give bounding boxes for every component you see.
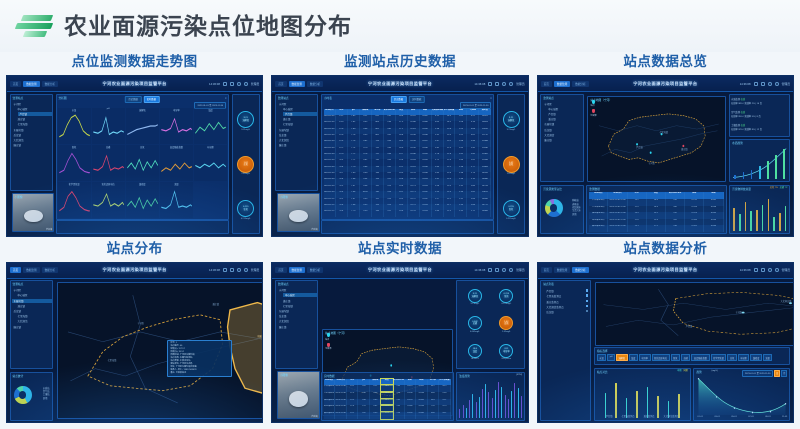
- nav-tab-analysis[interactable]: 数据分析: [42, 81, 58, 87]
- legend-previous: 同期: [683, 370, 687, 373]
- toggle-history[interactable]: 历史数据: [125, 96, 141, 104]
- cell: 0.198: [405, 392, 417, 399]
- gauge-item-3[interactable]: 1.62 总氮 1.62mg/L: [499, 316, 513, 333]
- panel-overview[interactable]: 站点数据总览 首页 数据监测 数据分析 宁河农业面源污染项目监管平台 14:36…: [537, 54, 794, 237]
- nav-tab-home[interactable]: 首页: [10, 81, 21, 87]
- info-key: 联系人: [170, 369, 176, 371]
- bar: [459, 409, 460, 417]
- nav-tab-home[interactable]: 首页: [275, 267, 286, 273]
- mini-chart-9[interactable]: 叶绿素: [194, 145, 227, 181]
- close-icon[interactable]: ×: [225, 96, 227, 100]
- table-row[interactable]: 岳龙镇监测点2023-11-30 12:0012.615.82450.1860.…: [589, 219, 723, 226]
- cell: 2.64: [432, 210, 444, 216]
- dashboard-screenshot-distribution[interactable]: 首页 数据监测 数据分析 宁河农业面源污染项目监管平台 14:36:08 管理员…: [6, 262, 263, 423]
- panel-history[interactable]: 监测站点历史数据 首页 数据监测 数据分析 宁河农业面源污染项目监管平台 14:…: [271, 54, 528, 237]
- station-tree-list[interactable]: 宁河区 中心城区 芦台镇 潘庄镇 七里海镇 东棘坨镇 岳龙镇 大北涧沽 廉庄镇: [11, 101, 52, 149]
- settings-icon[interactable]: [775, 268, 779, 272]
- station-photo-title: 小图像: [15, 195, 23, 199]
- chip-11[interactable]: 叶绿素: [738, 354, 750, 361]
- table-row[interactable]: 潘庄镇监测点2023-11-30 12:0013.57.889.0519.223…: [324, 399, 451, 406]
- map-svg: [596, 283, 794, 345]
- station-tree-card[interactable]: 监测站点 宁河区 中心城区 潘庄镇 七里海镇 东棘坨镇 岳龙镇 大北涧沽 廉庄镇: [275, 280, 318, 369]
- bottom-indicator-strip[interactable]: [56, 220, 230, 234]
- cell: 2.72: [467, 210, 479, 216]
- map-place-0: 宁河区: [648, 161, 655, 165]
- nav-tab-monitor[interactable]: 数据监测: [23, 81, 39, 87]
- tree-item-0[interactable]: 宁河区: [279, 102, 317, 106]
- tree-item-5[interactable]: 东棘坨镇: [279, 309, 317, 313]
- bar: [514, 383, 515, 418]
- tree-item-1[interactable]: 中心城区: [283, 107, 317, 111]
- checkbox-icon[interactable]: [586, 294, 589, 297]
- info-key: 备注: [170, 372, 174, 374]
- cell: 18.6: [647, 199, 666, 206]
- tree-item-5[interactable]: 东棘坨镇: [14, 128, 52, 132]
- topbar-tabs[interactable]: 首页 数据监测 数据分析: [275, 267, 323, 273]
- emission-bar-title: 污染物排放总量: [732, 187, 751, 191]
- user-label[interactable]: 管理员: [516, 268, 524, 272]
- map-place-0: 宁河区: [138, 321, 145, 325]
- chip-6[interactable]: 氨氮: [671, 354, 680, 361]
- checkbox-icon[interactable]: [586, 310, 589, 313]
- checklist-item-0[interactable]: 芦台镇: [546, 289, 588, 293]
- tree-item-2[interactable]: 芦台镇: [283, 112, 317, 116]
- mini-chart-13[interactable]: 流量: [160, 182, 193, 218]
- checklist-item-4[interactable]: 岳龙镇: [546, 310, 588, 314]
- dashboard-screenshot-history[interactable]: 首页 数据监测 数据分析 宁河农业面源污染项目监管平台 14:36:08 管理员…: [271, 75, 528, 236]
- tree-item-2[interactable]: 芦台镇: [18, 112, 52, 116]
- close-icon[interactable]: ×: [490, 96, 492, 100]
- nav-tab-home[interactable]: 首页: [275, 81, 286, 87]
- tree-item-8[interactable]: 廉庄镇: [279, 143, 317, 147]
- toggle-realtime[interactable]: 实时数据: [409, 96, 425, 104]
- turbidity-chart-card[interactable]: 浊度趋势 (NTU): [456, 372, 525, 421]
- cell: 9.05: [370, 399, 382, 406]
- history-table[interactable]: 监测时间 水温 pH 溶解氧 电导率 氧化还原电位 浊度 氨氮 总磷 高锰酸盐指…: [324, 109, 492, 217]
- mini-chart-11[interactable]: 氧化还原电位: [92, 182, 125, 218]
- tree-item-1[interactable]: 中心城区: [18, 293, 52, 297]
- dashboard-screenshot-overview[interactable]: 首页 数据监测 数据分析 宁河农业面源污染项目监管平台 14:36:08 管理员: [537, 75, 794, 236]
- realtime-table-card[interactable]: 实时数据 监测站点 监测时间 水温 pH 溶解氧 浊度 氧化还原电位 氨氮 总磷: [321, 372, 454, 421]
- tree-item-0[interactable]: 宁河区: [279, 288, 317, 292]
- cell: 805: [428, 392, 440, 399]
- history-toggle-group[interactable]: 历史数据 实时数据: [390, 96, 424, 104]
- tree-item-0[interactable]: 宁河区: [14, 102, 52, 106]
- nav-tab-analysis[interactable]: 数据分析: [572, 267, 588, 273]
- chip-7[interactable]: 总磷: [681, 354, 690, 361]
- gauge-name-2: 氨氮: [509, 209, 513, 212]
- tree-item-1[interactable]: 中心城区: [548, 107, 582, 111]
- user-label[interactable]: 管理员: [782, 268, 790, 272]
- tree-item-3[interactable]: 潘庄镇: [283, 299, 317, 303]
- tree-item-3[interactable]: 潘庄镇: [548, 117, 582, 121]
- realtime-gauge-card[interactable]: 9.21 溶解氧 9.21mg/L 0.215 氨氮 0.215mg/L: [456, 280, 525, 369]
- station-tree-list[interactable]: 宁河区 中心城区 芦台镇 潘庄镇 东棘坨镇 岳龙镇 大北涧沽 廉庄镇: [541, 101, 582, 144]
- tree-item-8[interactable]: 廉庄镇: [279, 325, 317, 329]
- station-map-card[interactable]: 站点地图（宁河） 站点 污染源: [587, 96, 725, 182]
- table-row[interactable]: 七里海监测点2023-11-30 12:0012.916.42400.1980.…: [589, 206, 723, 213]
- nav-tab-monitor[interactable]: 数据监测: [23, 267, 39, 273]
- gauge-item-1[interactable]: 0.215 氨氮 0.215mg/L: [499, 289, 513, 306]
- tree-item-0[interactable]: 宁河区: [544, 102, 582, 106]
- topbar-right[interactable]: 14:36:08 管理员: [474, 268, 524, 272]
- cell: 238: [666, 225, 685, 232]
- checkbox-icon[interactable]: [586, 305, 589, 308]
- chip-1[interactable]: pH: [607, 354, 615, 361]
- station-info-popup[interactable]: 序号: 1 站点编号: 06 经度(E): 117.57 纬度(N): 39.5…: [167, 340, 232, 377]
- bar: [615, 383, 617, 417]
- settings-icon[interactable]: [244, 268, 248, 272]
- cell: 0.045: [416, 399, 428, 406]
- trend-area-card[interactable]: 趋势 (mg/L) 2023-01-01 至 2023-11-30 日 月: [693, 368, 790, 421]
- emission-bar-card[interactable]: 污染物排放总量 总氮 TN 总磷 TP: [729, 185, 790, 234]
- tree-item-7[interactable]: 大北涧沽: [279, 319, 317, 323]
- user-label[interactable]: 管理员: [782, 82, 790, 86]
- col-10: 化学需氧量: [439, 379, 451, 386]
- status-row-2[interactable]: 土壤监测 在线 在线率 92% / 离线率 8% | 12 台: [731, 124, 788, 132]
- map-place-1: 芦台镇: [686, 324, 693, 328]
- xtick-0: 01-01: [697, 416, 703, 419]
- tree-item-6[interactable]: 岳龙镇: [14, 133, 52, 137]
- bar: [739, 214, 741, 231]
- gauge-item-1[interactable]: 1.62 总氮 1.62mg/L: [237, 156, 254, 176]
- tree-item-8[interactable]: 廉庄镇: [14, 325, 52, 329]
- tree-item-2[interactable]: 芦台镇: [548, 112, 582, 116]
- col-5-highlight: 浊度: [381, 379, 393, 386]
- dashboard-body: 监测站点 宁河区 中心城区 东棘坨镇 潘庄镇 岳龙镇 七里海镇 大北涧沽 廉庄镇…: [7, 279, 262, 422]
- topbar-right[interactable]: 14:36:08 管理员: [740, 268, 790, 272]
- panel-analysis[interactable]: 站点数据分析 首页 数据监测 数据分析 宁河农业面源污染项目监管平台 14:36…: [537, 241, 794, 424]
- tree-item-7[interactable]: 大北涧沽: [14, 138, 52, 142]
- cell: 0.042: [704, 199, 723, 206]
- bell-icon[interactable]: [237, 82, 241, 86]
- tree-item-4[interactable]: 七里海镇: [18, 314, 52, 318]
- gauge-strip-card: 9.21 溶解氧 9.21mg/L 1.62 总氮 1.62mg/L: [497, 94, 525, 235]
- station-compare-card[interactable]: 站点对比 本期 同期: [594, 368, 691, 421]
- topbar-tabs[interactable]: 首页 数据监测 数据分析: [10, 267, 58, 273]
- screen-icon[interactable]: [495, 268, 499, 272]
- nav-tab-analysis[interactable]: 数据分析: [307, 267, 323, 273]
- checklist-item-2[interactable]: 潘庄监测点: [546, 300, 588, 304]
- station-tree-card[interactable]: 监测站点 宁河区 中心城区 芦台镇 潘庄镇 七里海镇 东棘坨镇 岳龙镇 大北涧沽…: [10, 94, 53, 192]
- table-row[interactable]: 芦台镇监测点2023-11-30 12:0013.27.859.2118.623…: [324, 385, 451, 392]
- water-trend-card[interactable]: 水质趋势: [729, 139, 790, 182]
- station-video-card[interactable]: 小图像 芦台镇: [277, 371, 320, 418]
- mini-chart-1[interactable]: pH: [92, 108, 125, 144]
- tree-item-7[interactable]: 大北涧沽: [544, 133, 582, 137]
- topbar-right[interactable]: 14:36:08 管理员: [209, 268, 259, 272]
- signal-icon[interactable]: [223, 82, 227, 86]
- distribution-map[interactable]: 东棘坨镇 宁河区 芦台镇 七里海镇 潘庄镇 序号: 1 站点编号: 06 经度(…: [57, 282, 264, 419]
- nav-tab-analysis[interactable]: 数据分析: [572, 81, 588, 87]
- tree-item-8[interactable]: 廉庄镇: [14, 143, 52, 147]
- tree-item-3[interactable]: 潘庄镇: [283, 117, 317, 121]
- tree-item-5[interactable]: 东棘坨镇: [12, 299, 52, 303]
- station-tree-list[interactable]: 宁河区 中心城区 东棘坨镇 潘庄镇 岳龙镇 七里海镇 大北涧沽 廉庄镇: [11, 287, 52, 330]
- bar: [469, 400, 470, 417]
- legend-pollution-label: 污染源: [590, 114, 596, 117]
- tree-item-5[interactable]: 东棘坨镇: [544, 122, 582, 126]
- dashboard-body: 监测站点 宁河区 中心城区 芦台镇 潘庄镇 七里海镇 东棘坨镇 岳龙镇 大北涧沽…: [272, 92, 527, 235]
- cell: 2023-11-30 12:00: [608, 206, 627, 213]
- cell: 2023-11-30 12:00: [335, 392, 347, 399]
- tree-item-7[interactable]: 大北涧沽: [279, 138, 317, 142]
- table-row[interactable]: 芦台镇监测点2023-11-30 12:0013.218.62350.2150.…: [589, 199, 723, 206]
- cell: 2023-11-30 12:00: [608, 212, 627, 219]
- screen-icon[interactable]: [230, 82, 234, 86]
- tree-item-3[interactable]: 潘庄镇: [18, 304, 52, 308]
- signal-icon[interactable]: [754, 268, 758, 272]
- status-row-1[interactable]: 空气监测 在线 在线率 95% / 离线率 5% | 8 台: [731, 111, 788, 119]
- signal-icon[interactable]: [488, 268, 492, 272]
- mini-chart-8[interactable]: 高锰酸盐指数: [160, 145, 193, 181]
- chip-0[interactable]: 水温: [597, 354, 606, 361]
- tree-item-4[interactable]: 七里海镇: [18, 122, 52, 126]
- nav-tab-monitor[interactable]: 数据监测: [289, 267, 305, 273]
- gauge-item-1[interactable]: 1.62 总氮 1.62mg/L: [503, 156, 520, 176]
- toggle-history[interactable]: 历史数据: [390, 96, 406, 104]
- cell: 0.215: [405, 385, 417, 392]
- nav-tab-home[interactable]: 首页: [541, 267, 552, 273]
- settings-icon[interactable]: [775, 82, 779, 86]
- tree-item-4[interactable]: 七里海镇: [283, 122, 317, 126]
- chip-4[interactable]: 电导率: [639, 354, 651, 361]
- gauge-sub-2: 0.215mg/L: [503, 218, 520, 220]
- station-photo-card[interactable]: 小图像 芦台镇: [277, 193, 320, 232]
- cell: 0.033: [420, 210, 432, 216]
- gauge-item-2[interactable]: 0.215 氨氮 0.215mg/L: [503, 200, 520, 220]
- status-name-1: 空气监测: [731, 112, 740, 114]
- nav-tab-analysis[interactable]: 数据分析: [307, 81, 323, 87]
- gauge-item-4[interactable]: 18.6 浊度 18.6NTU: [468, 344, 482, 361]
- legend-tp: 总磷 TP: [780, 187, 788, 190]
- table-row[interactable]: 岳龙镇监测点2023-11-30 12:0012.67.769.6215.824…: [324, 405, 451, 412]
- tree-item-6[interactable]: 岳龙镇: [544, 128, 582, 132]
- logo-bar-middle: [15, 23, 53, 29]
- station-checklist-card[interactable]: 站点列表 芦台镇 七里海监测点 潘庄监测点: [540, 280, 591, 421]
- gauge-dial-2: 0.042 总磷: [468, 316, 482, 330]
- donut-legend: 水质站 空气站 土壤站 其他: [43, 388, 50, 401]
- tree-item-3[interactable]: 潘庄镇: [18, 117, 52, 121]
- page-title: 农业面源污染点位地图分布: [64, 15, 352, 38]
- trend-area-date[interactable]: 2023-01-01 至 2023-11-30: [742, 370, 774, 377]
- checklist-item-1[interactable]: 七里海监测点: [546, 294, 588, 298]
- station-tree-card[interactable]: 监测站点 宁河区 中心城区 芦台镇 潘庄镇 七里海镇 东棘坨镇 岳龙镇 大北涧沽…: [275, 94, 318, 192]
- bell-icon[interactable]: [768, 82, 772, 86]
- bottom-indicator-strip[interactable]: [321, 220, 495, 234]
- topbar-right[interactable]: 14:36:08 管理员: [209, 82, 259, 86]
- topbar-tabs[interactable]: 首页 数据监测 数据分析: [541, 81, 589, 87]
- chip-5[interactable]: 氧化还原电位: [652, 354, 670, 361]
- table-row[interactable]: 七里海监测点2023-11-30 12:0012.97.809.4816.424…: [324, 392, 451, 399]
- topbar-right[interactable]: 14:36:08 管理员: [740, 82, 790, 86]
- history-dialog[interactable]: 小时表 历史数据 实时数据 2023-01-01 至 2023-11-30 × …: [321, 94, 495, 220]
- platform-title: 宁河农业面源污染项目监管平台: [103, 81, 167, 87]
- bar: [775, 155, 777, 179]
- info-val: 已验收投运: [176, 372, 186, 374]
- mini-chart-0[interactable]: 水温: [58, 108, 91, 144]
- chip-12[interactable]: 藻密度: [750, 354, 762, 361]
- tree-item-7[interactable]: 大北涧沽: [18, 319, 52, 323]
- mini-chart-10[interactable]: 化学需氧量: [58, 182, 91, 218]
- gauge-strip-card: 9.21 溶解氧 9.21mg/L 1.62 总氮 1.62mg/L: [232, 94, 260, 235]
- panel-distribution[interactable]: 站点分布 首页 数据监测 数据分析 宁河农业面源污染项目监管平台 14:36:0…: [6, 241, 263, 424]
- dashboard-topbar: 首页 数据监测 数据分析 宁河农业面源污染项目监管平台 14:36:08 管理员: [272, 76, 527, 92]
- tree-item-6[interactable]: 岳龙镇: [279, 314, 317, 318]
- trend-dialog[interactable]: 分析图 历史数据 实时数据 2023-01-01 至 2023-11-30 × …: [56, 94, 230, 220]
- dashboard-screenshot-trend[interactable]: 首页 数据监测 数据分析 宁河农业面源污染项目监管平台 14:36:08 管理员: [6, 75, 263, 236]
- station-checklist[interactable]: 芦台镇 七里海监测点 潘庄监测点 大北涧沽监测点: [543, 288, 588, 315]
- gauge-item-5[interactable]: 812 电导率 812μS/cm: [499, 344, 513, 361]
- checkbox-icon[interactable]: [586, 300, 589, 303]
- mini-chart-5[interactable]: 氨氮: [58, 145, 91, 181]
- nav-tab-monitor[interactable]: 数据监测: [289, 81, 305, 87]
- screen-icon[interactable]: [495, 82, 499, 86]
- donut-chart: [14, 386, 32, 404]
- station-tree-title: 监测站点: [543, 96, 554, 100]
- xlabel-2: 潘庄监测点: [644, 416, 655, 419]
- dashboard-topbar: 首页 数据监测 数据分析 宁河农业面源污染项目监管平台 14:36:08 管理员: [7, 76, 262, 92]
- topbar-tabs[interactable]: 首页 数据监测 数据分析: [275, 81, 323, 87]
- trend-area-svg: [697, 377, 787, 415]
- station-photo-tag: 芦台镇: [46, 228, 52, 231]
- settings-icon[interactable]: [244, 82, 248, 86]
- table-row[interactable]: 2023-11-29 21:0011.87.709.9078625214.80.…: [324, 210, 492, 216]
- nav-tab-monitor[interactable]: 数据监测: [554, 81, 570, 87]
- nav-tab-analysis[interactable]: 数据分析: [42, 267, 58, 273]
- station-tree-title: 监测站点: [278, 96, 289, 100]
- bar: [492, 398, 493, 417]
- tree-item-8[interactable]: 廉庄镇: [544, 138, 582, 142]
- station-tree-card[interactable]: 监测站点 宁河区 中心城区 东棘坨镇 潘庄镇 岳龙镇 七里海镇 大北涧沽 廉庄镇: [10, 280, 53, 369]
- chip-bar-title: 指标选择: [597, 349, 608, 353]
- station-stats-card[interactable]: 站点统计 水质站 空气站 土壤站 其他: [10, 372, 53, 421]
- device-status-card[interactable]: 水质监测 在线 在线率 98% / 离线率 2% | 16 台 空气监测 在线 …: [729, 94, 790, 137]
- toggle-realtime[interactable]: 实时数据: [143, 96, 159, 104]
- screen-icon[interactable]: [761, 268, 765, 272]
- nav-tab-home[interactable]: 首页: [10, 267, 21, 273]
- trend-toggle-group[interactable]: 历史数据 实时数据: [125, 96, 159, 104]
- cell: 芦台镇监测点: [324, 385, 336, 392]
- chip-8[interactable]: 高锰酸盐指数: [691, 354, 709, 361]
- tree-item-1[interactable]: 中心城区: [18, 107, 52, 111]
- mini-chart-12[interactable]: 藻密度: [126, 182, 159, 218]
- chip-10[interactable]: 总氮: [727, 354, 736, 361]
- chip-list[interactable]: 水温 pH 溶解氧 浊度 电导率 氧化还原电位 氨氮 总磷 高锰酸盐指数 化学需…: [597, 354, 788, 361]
- table-row[interactable]: 廉庄镇监测点2023-11-30 12:0013.17.829.3517.523…: [324, 412, 451, 419]
- station-tree-card[interactable]: 监测站点 宁河区 中心城区 芦台镇 潘庄镇 东棘坨镇 岳龙镇 大北涧沽 廉庄镇: [540, 94, 583, 183]
- signal-icon[interactable]: [223, 268, 227, 272]
- settings-icon[interactable]: [509, 82, 513, 86]
- bell-icon[interactable]: [502, 268, 506, 272]
- settings-icon[interactable]: [509, 268, 513, 272]
- nav-tab-home[interactable]: 首页: [541, 81, 552, 87]
- gauge-item-0[interactable]: 9.21 溶解氧 9.21mg/L: [468, 289, 482, 306]
- mini-chart-6[interactable]: 总磷: [92, 145, 125, 181]
- gauge-dial-3: 1.62 总氮: [499, 316, 513, 330]
- bell-icon[interactable]: [768, 268, 772, 272]
- cell: 潘庄镇监测点: [589, 212, 608, 219]
- bar: [482, 389, 483, 418]
- cell: 岳龙镇监测点: [324, 405, 336, 412]
- tree-item-5[interactable]: 东棘坨镇: [279, 128, 317, 132]
- bar: [733, 208, 735, 231]
- mini-chart-2[interactable]: 溶解氧: [126, 108, 159, 144]
- indicator-chip-bar[interactable]: 指标选择 水温 pH 溶解氧 浊度 电导率 氧化还原电位 氨氮 总磷 高锰酸盐指…: [594, 347, 791, 364]
- checkbox-icon[interactable]: [586, 289, 589, 292]
- station-tree-list[interactable]: 宁河区 中心城区 芦台镇 潘庄镇 七里海镇 东棘坨镇 岳龙镇 大北涧沽 廉庄镇: [276, 101, 317, 149]
- chip-2-active[interactable]: 溶解氧: [616, 354, 628, 361]
- topbar-right[interactable]: 14:36:08 管理员: [474, 82, 524, 86]
- col-3: pH: [358, 379, 370, 386]
- checklist-item-3[interactable]: 大北涧沽监测点: [546, 305, 588, 309]
- gauge-item-0[interactable]: 9.21 溶解氧 9.21mg/L: [237, 111, 254, 131]
- bell-icon[interactable]: [237, 268, 241, 272]
- topbar-tabs[interactable]: 首页 数据监测 数据分析: [10, 81, 58, 87]
- panel-realtime[interactable]: 站点实时数据 首页 数据监测 数据分析 宁河农业面源污染项目监管平台 14:36…: [271, 241, 528, 424]
- station-tree-list[interactable]: 宁河区 中心城区 潘庄镇 七里海镇 东棘坨镇 岳龙镇 大北涧沽 廉庄镇: [276, 287, 317, 330]
- nav-tab-monitor[interactable]: 数据监测: [554, 267, 570, 273]
- tree-item-1[interactable]: 中心城区: [283, 293, 317, 297]
- gauge-item-0[interactable]: 9.21 溶解氧 9.21mg/L: [503, 111, 520, 131]
- checklist-label-2: 潘庄监测点: [546, 300, 559, 304]
- dashboard-body: 监测站点 宁河区 中心城区 潘庄镇 七里海镇 东棘坨镇 岳龙镇 大北涧沽 廉庄镇…: [272, 279, 527, 422]
- table-row[interactable]: 廉庄镇监测点2023-11-30 12:0013.117.52380.2050.…: [589, 225, 723, 232]
- legend-item-3: 其他: [43, 398, 50, 401]
- mini-chart-4[interactable]: 浊度: [194, 108, 227, 144]
- user-label[interactable]: 管理员: [516, 82, 524, 86]
- screen-icon[interactable]: [230, 268, 234, 272]
- user-label[interactable]: 管理员: [251, 268, 259, 272]
- chip-3[interactable]: 浊度: [629, 354, 638, 361]
- realtime-table[interactable]: 监测站点 监测时间 水温 pH 溶解氧 浊度 氧化还原电位 氨氮 总磷 电导率 …: [324, 379, 451, 419]
- chip-13[interactable]: 流量: [763, 354, 772, 361]
- history-date-range[interactable]: 2023-01-01 至 2023-11-30: [460, 102, 492, 109]
- overview-table[interactable]: 监测站点 监测时间 水温 浊度 氧化还原电位 氨氮 总磷 芦台镇监测点2023-…: [589, 192, 723, 232]
- tree-item-4[interactable]: 七里海镇: [283, 304, 317, 308]
- table-row[interactable]: 潘庄镇监测点2023-11-30 12:0013.519.22320.2240.…: [589, 212, 723, 219]
- signal-icon[interactable]: [488, 82, 492, 86]
- gauge-item-2[interactable]: 0.042 总磷 0.042mg/L: [468, 316, 482, 333]
- clock-label: 14:36:08: [474, 268, 485, 272]
- tree-item-6[interactable]: 岳龙镇: [14, 309, 52, 313]
- panel-trend[interactable]: 点位监测数据走势图 首页 数据监测 数据分析 宁河农业面源污染项目监管平台 14…: [6, 54, 263, 237]
- status-row-0[interactable]: 水质监测 在线 在线率 98% / 离线率 2% | 16 台: [731, 98, 788, 106]
- bell-icon[interactable]: [502, 82, 506, 86]
- tree-item-0[interactable]: 宁河区: [14, 288, 52, 292]
- tree-item-6[interactable]: 岳龙镇: [279, 133, 317, 137]
- dashboard-screenshot-analysis[interactable]: 首页 数据监测 数据分析 宁河农业面源污染项目监管平台 14:36:08 管理员: [537, 262, 794, 423]
- bar: [743, 172, 745, 179]
- topbar-tabs[interactable]: 首页 数据监测 数据分析: [541, 267, 589, 273]
- user-label[interactable]: 管理员: [251, 82, 259, 86]
- dashboard-screenshot-realtime[interactable]: 首页 数据监测 数据分析 宁河农业面源污染项目监管平台 14:36:08 管理员…: [271, 262, 528, 423]
- pollution-donut-card[interactable]: 污染源类型占比 种植业 养殖业 农田退水 生活污水 其他: [540, 185, 583, 234]
- mini-chart-7[interactable]: 总氮: [126, 145, 159, 181]
- cell: 13.2: [347, 385, 359, 392]
- mini-chart-3[interactable]: 电导率: [160, 108, 193, 144]
- station-photo-card[interactable]: 小图像 芦台镇: [12, 193, 55, 232]
- screen-icon[interactable]: [761, 82, 765, 86]
- dashboard-topbar: 首页 数据监测 数据分析 宁河农业面源污染项目监管平台 14:36:08 管理员: [7, 263, 262, 279]
- analysis-map-card[interactable]: 宁河区 大北涧沽镇 芦台镇: [595, 282, 794, 346]
- gauge-item-2[interactable]: 0.215 氨氮 0.215mg/L: [237, 200, 254, 220]
- signal-icon[interactable]: [754, 82, 758, 86]
- cell: 七里海监测点: [324, 392, 336, 399]
- realtime-table-title: 实时数据: [324, 374, 335, 378]
- overview-table-card[interactable]: 监测数据 监测站点 监测时间 水温 浊度 氧化还原电位 氨氮 总磷 芦台镇监测点…: [586, 185, 726, 234]
- chip-9[interactable]: 化学需氧量: [711, 354, 727, 361]
